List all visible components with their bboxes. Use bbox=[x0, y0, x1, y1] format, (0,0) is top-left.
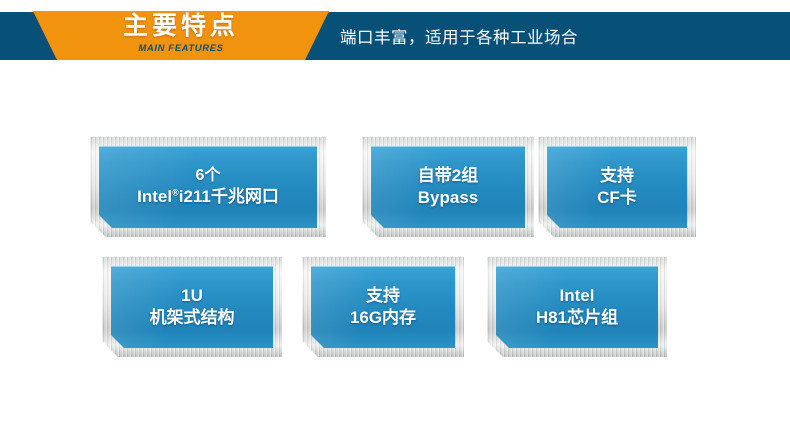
feature-card-rack-1u[interactable]: 1U 机架式结构 bbox=[102, 257, 282, 357]
feature-card-memory-16g[interactable]: 支持 16G内存 bbox=[302, 257, 464, 357]
card-body: 支持 CF卡 bbox=[547, 146, 687, 228]
feature-card-cf-card[interactable]: 支持 CF卡 bbox=[538, 137, 696, 237]
card-line-primary: 支持 bbox=[366, 285, 400, 307]
card-line-secondary: Intel®i211千兆网口 bbox=[137, 186, 279, 208]
feature-card-bypass[interactable]: 自带2组 Bypass bbox=[362, 137, 534, 237]
header-caption: 端口丰富，适用于各种工业场合 bbox=[340, 24, 578, 48]
card-line-secondary: CF卡 bbox=[597, 187, 637, 209]
feature-grid: 6个 Intel®i211千兆网口 自带2组 Bypass 支持 CF卡 1U … bbox=[0, 72, 790, 433]
banner-subtitle: MAIN FEATURES bbox=[28, 43, 334, 54]
card-text-model: i211千兆网口 bbox=[179, 187, 279, 206]
card-line-secondary: Bypass bbox=[418, 187, 478, 209]
card-line-secondary: 机架式结构 bbox=[150, 307, 235, 329]
card-body: Intel H81芯片组 bbox=[496, 266, 658, 348]
feature-card-gigabit-lan[interactable]: 6个 Intel®i211千兆网口 bbox=[90, 137, 326, 237]
card-body: 支持 16G内存 bbox=[311, 266, 455, 348]
card-body: 自带2组 Bypass bbox=[371, 146, 525, 228]
card-text-intel: Intel bbox=[137, 187, 172, 206]
card-line-primary: 6个 bbox=[196, 166, 221, 186]
banner-title: 主要特点 bbox=[28, 10, 334, 42]
card-line-secondary: 16G内存 bbox=[350, 307, 416, 329]
card-body: 1U 机架式结构 bbox=[111, 266, 273, 348]
page-header: 主要特点 MAIN FEATURES 端口丰富，适用于各种工业场合 bbox=[0, 0, 790, 72]
card-line-primary: Intel bbox=[560, 285, 595, 307]
card-line-secondary: H81芯片组 bbox=[536, 307, 618, 329]
feature-card-chipset-h81[interactable]: Intel H81芯片组 bbox=[487, 257, 667, 357]
card-line-primary: 自带2组 bbox=[418, 165, 478, 187]
card-line-primary: 支持 bbox=[600, 165, 634, 187]
registered-mark-icon: ® bbox=[172, 188, 179, 198]
card-line-primary: 1U bbox=[181, 285, 203, 307]
card-body: 6个 Intel®i211千兆网口 bbox=[99, 146, 317, 228]
